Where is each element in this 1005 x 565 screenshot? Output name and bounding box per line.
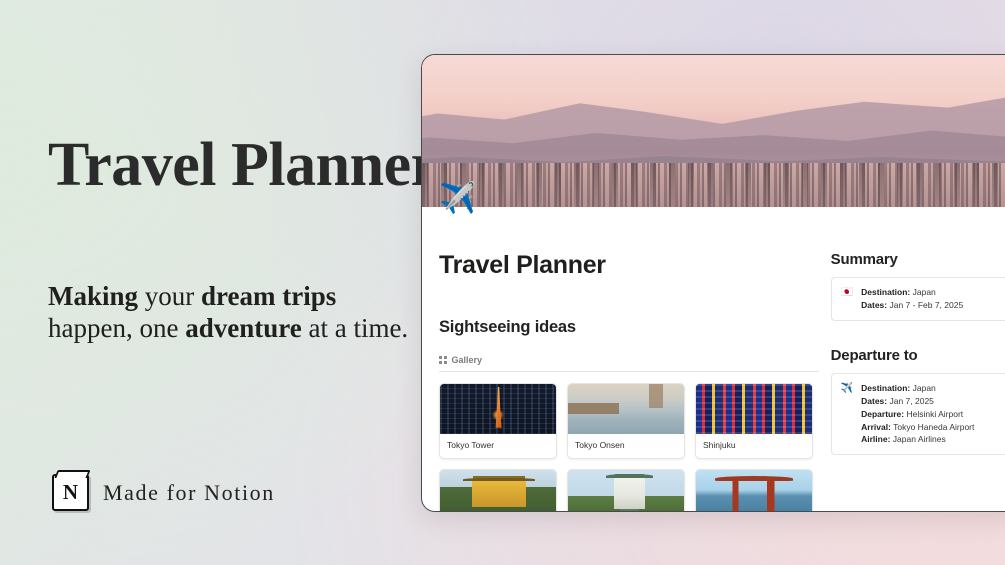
- summary-row-key: Destination:: [861, 287, 910, 297]
- made-for-notion-badge: N Made for Notion: [52, 474, 275, 511]
- departure-row-value: Helsinki Airport: [904, 409, 963, 419]
- card-thumbnail-tokyo-tower: [440, 384, 556, 434]
- summary-row-key: Dates:: [861, 300, 887, 310]
- made-for-notion-label: Made for Notion: [103, 480, 275, 506]
- summary-heading[interactable]: Summary: [831, 251, 1005, 268]
- hero-tagline: Making your dream trips happen, one adve…: [48, 281, 423, 345]
- tagline-line1-bold-b: dream trips: [201, 281, 336, 311]
- tagline-line2-plain-b: at a time.: [302, 313, 408, 343]
- departure-callout-body: Destination: Japan Dates: Jan 7, 2025 De…: [861, 382, 974, 447]
- card-thumbnail-shinjuku: [696, 384, 812, 434]
- page-title[interactable]: Travel Planner: [439, 251, 819, 280]
- page-icon-airplane-icon[interactable]: ✈️: [439, 184, 476, 214]
- departure-row-key: Arrival:: [861, 422, 891, 432]
- gallery-card[interactable]: Tokyo Onsen: [567, 383, 685, 459]
- summary-row-value: Jan 7 - Feb 7, 2025: [887, 300, 963, 310]
- summary-callout[interactable]: 🇯🇵 Destination: Japan Dates: Jan 7 - Feb…: [831, 277, 1005, 321]
- summary-callout-body: Destination: Japan Dates: Jan 7 - Feb 7,…: [861, 286, 963, 312]
- gallery-card[interactable]: Kinkakuji: [439, 469, 557, 512]
- database-title[interactable]: Sightseeing ideas: [439, 318, 819, 337]
- departure-row-value: Japan Airlines: [890, 434, 945, 444]
- tab-gallery[interactable]: Gallery: [439, 355, 819, 372]
- gallery-grid: Tokyo Tower Tokyo Onsen Shinjuku Kinkaku…: [439, 383, 819, 512]
- card-label: Tokyo Tower: [440, 434, 556, 458]
- departure-row-key: Destination:: [861, 383, 910, 393]
- notion-logo-icon: N: [52, 474, 89, 511]
- cityscape-band: [422, 163, 1005, 207]
- page-cover-image: [422, 55, 1005, 207]
- japan-flag-icon: 🇯🇵: [841, 286, 853, 300]
- hero-title: Travel Planner: [48, 134, 438, 197]
- tagline-line2-plain-a: happen, one: [48, 313, 185, 343]
- notion-page-window: ✈️ Travel Planner Sightseeing ideas Gall…: [421, 54, 1005, 512]
- card-thumbnail-tokyo-onsen: [568, 384, 684, 434]
- marketing-panel: Travel Planner Making your dream trips h…: [0, 0, 430, 565]
- departure-row-value: Tokyo Haneda Airport: [891, 422, 974, 432]
- summary-row-value: Japan: [910, 287, 936, 297]
- card-thumbnail-miyajima-island: [696, 470, 812, 512]
- tagline-line1-bold-a: Making: [48, 281, 138, 311]
- departure-callout[interactable]: ✈️ Destination: Japan Dates: Jan 7, 2025…: [831, 373, 1005, 456]
- tagline-line2-bold: adventure: [185, 313, 302, 343]
- departure-row-key: Airline:: [861, 434, 890, 444]
- departure-row-key: Departure:: [861, 409, 904, 419]
- departure-row-value: Japan: [910, 383, 936, 393]
- departure-row-key: Dates:: [861, 396, 887, 406]
- gallery-card[interactable]: Shinjuku: [695, 383, 813, 459]
- card-label: Tokyo Onsen: [568, 434, 684, 458]
- main-column: Travel Planner Sightseeing ideas Gallery…: [422, 251, 819, 512]
- page-body: Travel Planner Sightseeing ideas Gallery…: [422, 207, 1005, 512]
- gallery-card[interactable]: Tokyo Tower: [439, 383, 557, 459]
- gallery-card[interactable]: Miyajima Island: [695, 469, 813, 512]
- airplane-icon: ✈️: [841, 382, 853, 396]
- departure-heading[interactable]: Departure to: [831, 347, 1005, 364]
- grid-icon: [439, 356, 447, 364]
- sidebar-column: Summary 🇯🇵 Destination: Japan Dates: Jan…: [819, 251, 1005, 512]
- tab-gallery-label: Gallery: [452, 355, 483, 365]
- departure-row-value: Jan 7, 2025: [887, 396, 934, 406]
- card-thumbnail-osaka-castle: [568, 470, 684, 512]
- card-label: Shinjuku: [696, 434, 812, 458]
- gallery-card[interactable]: Osaka Castle: [567, 469, 685, 512]
- card-thumbnail-kinkakuji: [440, 470, 556, 512]
- notion-logo-letter: N: [63, 482, 78, 503]
- tagline-line1-plain: your: [138, 281, 201, 311]
